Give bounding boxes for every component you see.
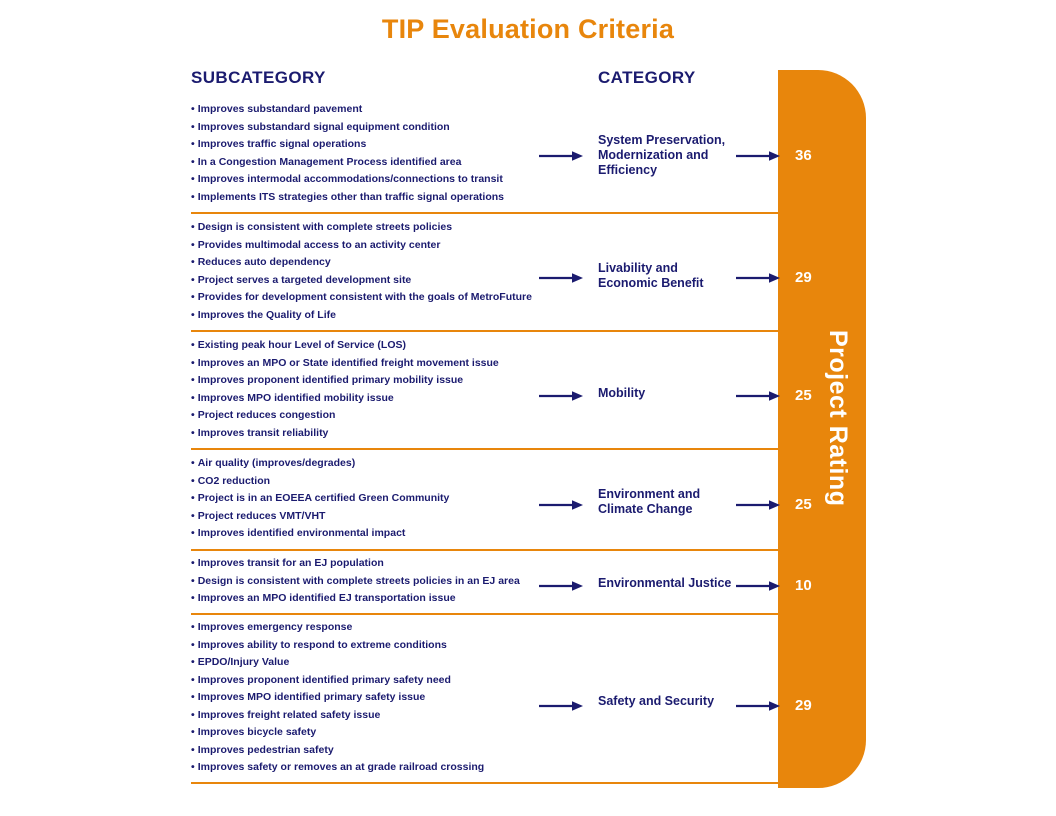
subcategory-item-label: Project reduces congestion: [198, 409, 336, 421]
subcategory-item-label: Improves substandard pavement: [198, 103, 363, 115]
bullet-icon: •: [191, 575, 195, 587]
subcategory-item: •Improves emergency response: [191, 619, 531, 637]
subcategory-list: •Improves transit for an EJ population•D…: [191, 555, 531, 608]
subcategory-item-label: Project reduces VMT/VHT: [198, 510, 326, 522]
subcategory-item-label: Improves ability to respond to extreme c…: [198, 639, 447, 651]
rating-value: 36: [795, 147, 835, 164]
category-label: Environmental Justice: [598, 576, 733, 591]
bullet-icon: •: [191, 492, 195, 504]
bullet-icon: •: [191, 138, 195, 150]
bullet-icon: •: [191, 656, 195, 668]
category-label: Safety and Security: [598, 694, 733, 709]
bullet-icon: •: [191, 392, 195, 404]
subcategory-item-label: Improves bicycle safety: [198, 726, 316, 738]
bullet-icon: •: [191, 639, 195, 651]
subcategory-item: •Design is consistent with complete stre…: [191, 573, 531, 591]
subcategory-item-label: Existing peak hour Level of Service (LOS…: [198, 339, 406, 351]
arrow-subcategory-to-category: [539, 580, 583, 592]
arrow-category-to-rating: [736, 499, 780, 511]
subcategory-item-label: EPDO/Injury Value: [198, 656, 290, 668]
row-divider: [191, 613, 780, 615]
subcategory-item: •Improves proponent identified primary s…: [191, 672, 531, 690]
subcategory-item-label: Improves intermodal accommodations/conne…: [198, 173, 503, 185]
subcategory-list: •Improves substandard pavement•Improves …: [191, 101, 531, 206]
subcategory-item-label: Reduces auto dependency: [198, 256, 331, 268]
bullet-icon: •: [191, 103, 195, 115]
bullet-icon: •: [191, 274, 195, 286]
arrow-subcategory-to-category: [539, 150, 583, 162]
arrow-subcategory-to-category: [539, 499, 583, 511]
subcategory-item-label: Provides for development consistent with…: [198, 291, 532, 303]
subcategory-item-label: Improves MPO identified mobility issue: [198, 392, 394, 404]
subcategory-item: •Improves substandard signal equipment c…: [191, 119, 531, 137]
subcategory-list: •Improves emergency response•Improves ab…: [191, 619, 531, 777]
subcategory-item-label: Improves transit for an EJ population: [198, 557, 384, 569]
subcategory-item: •Improves traffic signal operations: [191, 136, 531, 154]
subcategory-item-label: Air quality (improves/degrades): [198, 457, 356, 469]
subcategory-item-label: Improves traffic signal operations: [198, 138, 367, 150]
bullet-icon: •: [191, 709, 195, 721]
bullet-icon: •: [191, 674, 195, 686]
bullet-icon: •: [191, 527, 195, 539]
subcategory-list: •Design is consistent with complete stre…: [191, 219, 531, 324]
bullet-icon: •: [191, 191, 195, 203]
rating-value: 25: [795, 387, 835, 404]
subcategory-item-label: Improves transit reliability: [198, 427, 329, 439]
subcategory-item: •Reduces auto dependency: [191, 254, 531, 272]
subcategory-item-label: Improves safety or removes an at grade r…: [198, 761, 485, 773]
subcategory-item: •Project reduces VMT/VHT: [191, 508, 531, 526]
bullet-icon: •: [191, 156, 195, 168]
rating-value: 10: [795, 577, 835, 594]
bullet-icon: •: [191, 291, 195, 303]
arrow-category-to-rating: [736, 390, 780, 402]
subcategory-item: •Improves identified environmental impac…: [191, 525, 531, 543]
subcategory-item: •Improves safety or removes an at grade …: [191, 759, 531, 777]
category-label: System Preservation, Modernization and E…: [598, 133, 733, 178]
subcategory-item-label: Improves pedestrian safety: [198, 744, 334, 756]
subcategory-item-label: Design is consistent with complete stree…: [198, 575, 520, 587]
subcategory-item: •Project is in an EOEEA certified Green …: [191, 490, 531, 508]
row-divider: [191, 330, 780, 332]
arrow-subcategory-to-category: [539, 272, 583, 284]
bullet-icon: •: [191, 744, 195, 756]
subcategory-item-label: Improves an MPO identified EJ transporta…: [198, 592, 456, 604]
bullet-icon: •: [191, 761, 195, 773]
subcategory-item: •Improves MPO identified mobility issue: [191, 390, 531, 408]
subcategory-item: •Design is consistent with complete stre…: [191, 219, 531, 237]
arrow-category-to-rating: [736, 272, 780, 284]
bullet-icon: •: [191, 557, 195, 569]
bullet-icon: •: [191, 374, 195, 386]
subcategory-item-label: Improves identified environmental impact: [198, 527, 406, 539]
subcategory-item: •Improves ability to respond to extreme …: [191, 637, 531, 655]
subcategory-item: •Improves the Quality of Life: [191, 307, 531, 325]
subcategory-item: •Air quality (improves/degrades): [191, 455, 531, 473]
subcategory-item-label: CO2 reduction: [198, 475, 270, 487]
subcategory-item: •EPDO/Injury Value: [191, 654, 531, 672]
arrow-category-to-rating: [736, 580, 780, 592]
subcategory-item: •Improves substandard pavement: [191, 101, 531, 119]
category-label: Livability and Economic Benefit: [598, 261, 733, 291]
bullet-icon: •: [191, 357, 195, 369]
row-divider: [191, 212, 780, 214]
subcategory-item: •Project serves a targeted development s…: [191, 272, 531, 290]
bullet-icon: •: [191, 339, 195, 351]
bullet-icon: •: [191, 475, 195, 487]
arrow-category-to-rating: [736, 150, 780, 162]
subcategory-item: •CO2 reduction: [191, 473, 531, 491]
bullet-icon: •: [191, 409, 195, 421]
bullet-icon: •: [191, 309, 195, 321]
bullet-icon: •: [191, 256, 195, 268]
bullet-icon: •: [191, 427, 195, 439]
subcategory-item: •Project reduces congestion: [191, 407, 531, 425]
arrow-subcategory-to-category: [539, 700, 583, 712]
subcategory-item: •Improves bicycle safety: [191, 724, 531, 742]
rating-value: 25: [795, 496, 835, 513]
rating-value: 29: [795, 697, 835, 714]
subcategory-item: •Improves pedestrian safety: [191, 742, 531, 760]
row-divider: [191, 782, 780, 784]
bullet-icon: •: [191, 592, 195, 604]
subcategory-item: •Existing peak hour Level of Service (LO…: [191, 337, 531, 355]
row-divider: [191, 448, 780, 450]
category-label: Mobility: [598, 386, 733, 401]
bullet-icon: •: [191, 121, 195, 133]
subcategory-item: •Implements ITS strategies other than tr…: [191, 189, 531, 207]
subcategory-item: •In a Congestion Management Process iden…: [191, 154, 531, 172]
subcategory-item: •Improves freight related safety issue: [191, 707, 531, 725]
subcategory-item-label: Project is in an EOEEA certified Green C…: [198, 492, 450, 504]
subcategory-item-label: Improves proponent identified primary mo…: [198, 374, 463, 386]
subcategory-item-label: Improves proponent identified primary sa…: [198, 674, 451, 686]
subcategory-item-label: Provides multimodal access to an activit…: [198, 239, 441, 251]
subcategory-item: •Improves an MPO identified EJ transport…: [191, 590, 531, 608]
subcategory-item: •Improves intermodal accommodations/conn…: [191, 171, 531, 189]
subcategory-item: •Improves proponent identified primary m…: [191, 372, 531, 390]
bullet-icon: •: [191, 221, 195, 233]
arrow-category-to-rating: [736, 700, 780, 712]
subcategory-item-label: Design is consistent with complete stree…: [198, 221, 452, 233]
bullet-icon: •: [191, 726, 195, 738]
rating-value: 29: [795, 269, 835, 286]
subcategory-item: •Improves an MPO or State identified fre…: [191, 355, 531, 373]
subcategory-list: •Existing peak hour Level of Service (LO…: [191, 337, 531, 442]
subcategory-item-label: Project serves a targeted development si…: [198, 274, 412, 286]
bullet-icon: •: [191, 621, 195, 633]
subcategory-item: •Improves MPO identified primary safety …: [191, 689, 531, 707]
bullet-icon: •: [191, 239, 195, 251]
subcategory-item-label: Improves the Quality of Life: [198, 309, 336, 321]
subcategory-item-label: Improves substandard signal equipment co…: [198, 121, 450, 133]
subcategory-item-label: Improves emergency response: [198, 621, 353, 633]
bullet-icon: •: [191, 691, 195, 703]
subcategory-list: •Air quality (improves/degrades)•CO2 red…: [191, 455, 531, 543]
bullet-icon: •: [191, 510, 195, 522]
bullet-icon: •: [191, 173, 195, 185]
bullet-icon: •: [191, 457, 195, 469]
subcategory-item-label: Implements ITS strategies other than tra…: [198, 191, 504, 203]
category-label: Environment and Climate Change: [598, 487, 733, 517]
subcategory-item: •Improves transit reliability: [191, 425, 531, 443]
subcategory-item-label: In a Congestion Management Process ident…: [198, 156, 462, 168]
subcategory-item-label: Improves freight related safety issue: [198, 709, 381, 721]
subcategory-item: •Improves transit for an EJ population: [191, 555, 531, 573]
arrow-subcategory-to-category: [539, 390, 583, 402]
row-divider: [191, 549, 780, 551]
subcategory-item-label: Improves an MPO or State identified frei…: [198, 357, 499, 369]
subcategory-item: •Provides for development consistent wit…: [191, 289, 531, 307]
subcategory-item: •Provides multimodal access to an activi…: [191, 237, 531, 255]
subcategory-item-label: Improves MPO identified primary safety i…: [198, 691, 426, 703]
criteria-rows: •Improves substandard pavement•Improves …: [0, 0, 1056, 816]
